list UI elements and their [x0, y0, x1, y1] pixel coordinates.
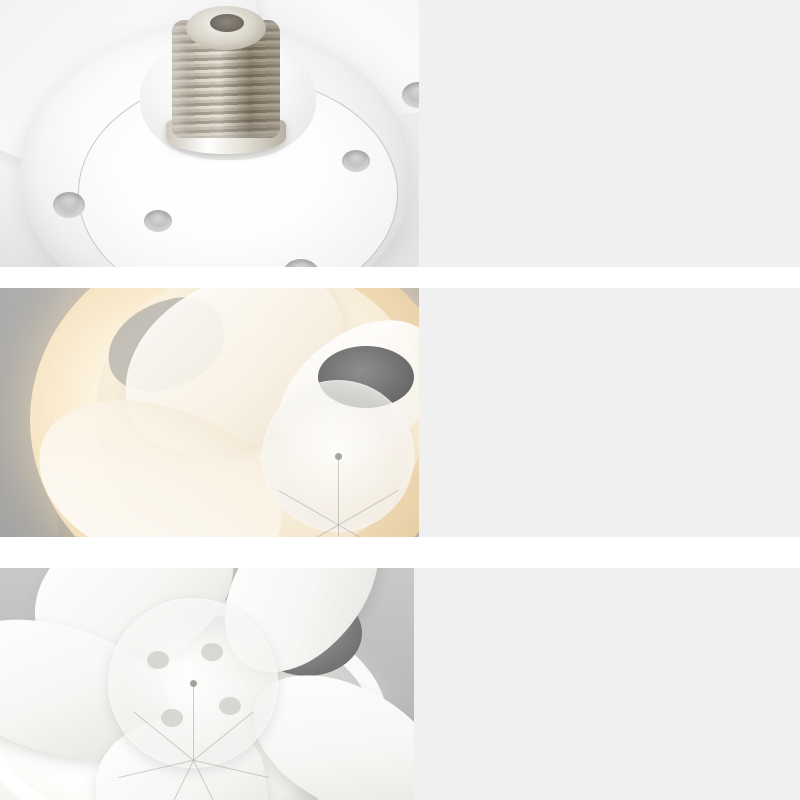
hub-screw-dot: [201, 643, 223, 661]
mounting-hole: [53, 192, 85, 218]
hub-center-screw: [190, 680, 197, 687]
acrylic-cover-photo: [0, 288, 419, 537]
hub-center-screw: [335, 453, 342, 460]
mounting-hole: [144, 210, 172, 232]
feature-text-column: Transparent acrylic cover Soft light, se…: [419, 288, 800, 537]
feature-panel-abs-blades: Preferred ABS blades lightweight and dur…: [0, 568, 800, 800]
e27-screw-contact-tip: [210, 14, 244, 32]
hub-spoke: [193, 683, 194, 760]
hub-screw-dot: [219, 697, 241, 715]
abs-blades-photo: [0, 568, 414, 800]
hub-spoke: [338, 456, 339, 525]
mounting-hole: [342, 150, 370, 172]
feature-panel-acrylic-cover: Transparent acrylic cover Soft light, se…: [0, 288, 800, 537]
feature-text-column: Universal E27 screw lamp holder Plug and…: [419, 0, 800, 267]
frosted-fan-hub: [262, 380, 414, 532]
hub-screw-dot: [147, 651, 169, 669]
hub-screw-dot: [161, 709, 183, 727]
frosted-fan-hub: [108, 598, 278, 768]
feature-panel-e27-holder: Universal E27 screw lamp holder Plug and…: [0, 0, 800, 267]
feature-text-column: Preferred ABS blades lightweight and dur…: [414, 568, 800, 800]
e27-lamp-holder-photo: [0, 0, 419, 267]
hub-spoke: [338, 525, 339, 537]
product-feature-infographic: Universal E27 screw lamp holder Plug and…: [0, 0, 800, 800]
